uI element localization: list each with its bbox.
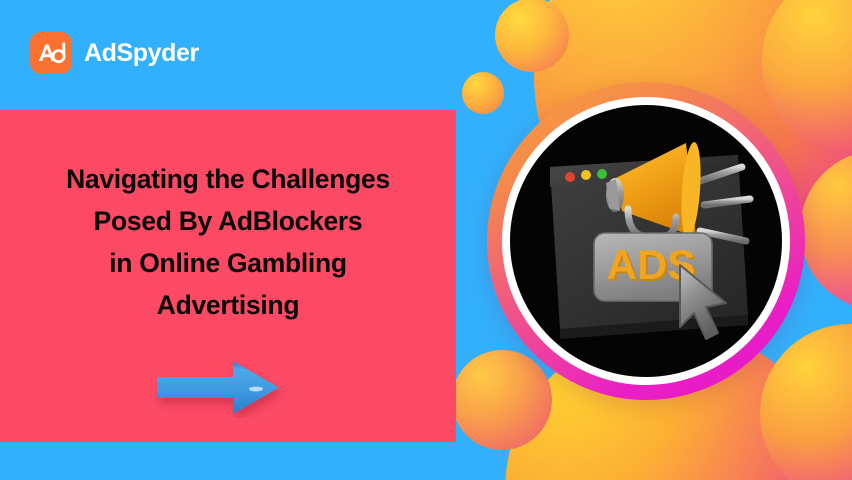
ads-browser-scene: ADS ADS	[510, 105, 782, 377]
hero-illustration: ADS ADS	[510, 105, 782, 377]
hero-image-ring: ADS ADS	[487, 82, 805, 400]
page-title: Navigating the Challenges Posed By AdBlo…	[0, 158, 456, 326]
blob-small-lower	[462, 72, 504, 114]
right-arrow-icon	[155, 358, 290, 418]
brand-wordmark: AdSpyder	[84, 39, 199, 68]
adspyder-logo-icon	[30, 32, 72, 74]
brand-logo[interactable]: AdSpyder	[30, 32, 199, 74]
promo-banner: Navigating the Challenges Posed By AdBlo…	[0, 0, 852, 480]
dot-red	[565, 172, 575, 182]
hero-inner-ring: ADS ADS	[502, 97, 790, 385]
blob-small-upper	[495, 0, 569, 72]
dot-yellow	[581, 170, 591, 180]
dot-green	[597, 169, 607, 179]
